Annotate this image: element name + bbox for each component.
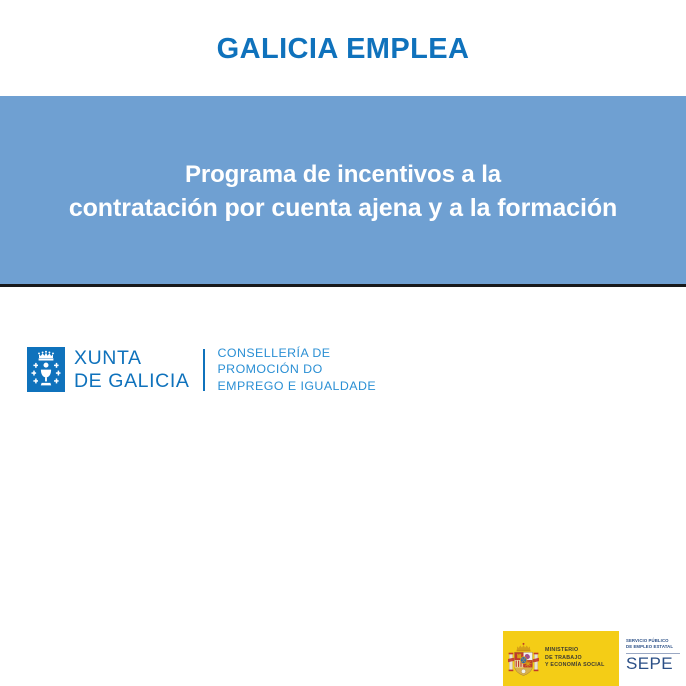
banner-heading: Programa de incentivos a la contratación… [55, 158, 631, 226]
footer-logo-bar: XUNTA DE GALICIA CONSELLERÍA DE PROMOCIÓ… [0, 287, 686, 410]
xunta-wordmark-line-1: XUNTA [74, 347, 189, 369]
page-title-area: GALICIA EMPLEA [0, 0, 686, 96]
xunta-wordmark: XUNTA DE GALICIA [74, 347, 189, 392]
conselleria-text: CONSELLERÍA DE PROMOCIÓN DO EMPREGO E IG… [217, 345, 376, 394]
ministerio-line-3: Y ECONOMÍA SOCIAL [545, 662, 605, 670]
conselleria-line-2: PROMOCIÓN DO [217, 361, 376, 377]
sepe-logo: SERVICIO PÚBLICO DE EMPLEO ESTATAL SEPE [616, 631, 686, 686]
galicia-coat-of-arms-icon [27, 347, 65, 392]
spain-coat-of-arms-icon [507, 640, 540, 678]
ministerio-text: MINISTERIO DE TRABAJO Y ECONOMÍA SOCIAL [545, 647, 605, 671]
ministerio-line-2: DE TRABAJO [545, 655, 605, 663]
page-title: GALICIA EMPLEA [217, 35, 470, 64]
banner-heading-line-1: Programa de incentivos a la [69, 158, 617, 191]
conselleria-line-1: CONSELLERÍA DE [217, 345, 376, 361]
sepe-subtitle: SERVICIO PÚBLICO DE EMPLEO ESTATAL [626, 638, 680, 650]
xunta-de-galicia-logo: XUNTA DE GALICIA CONSELLERÍA DE PROMOCIÓ… [27, 345, 376, 394]
program-banner: Programa de incentivos a la contratación… [0, 96, 686, 284]
government-logos: MINISTERIO DE TRABAJO Y ECONOMÍA SOCIAL … [503, 631, 686, 686]
banner-heading-line-2: contratación por cuenta ajena y a la for… [69, 191, 617, 226]
conselleria-line-3: EMPREGO E IGUALDADE [217, 378, 376, 394]
sepe-subtitle-line-2: DE EMPLEO ESTATAL [626, 644, 680, 650]
xunta-wordmark-line-2: DE GALICIA [74, 370, 189, 392]
ministerio-line-1: MINISTERIO [545, 647, 605, 655]
logo-divider [203, 349, 205, 391]
sepe-acronym: SEPE [626, 655, 680, 672]
ministerio-trabajo-logo: MINISTERIO DE TRABAJO Y ECONOMÍA SOCIAL [503, 631, 616, 686]
sepe-divider [626, 653, 680, 654]
